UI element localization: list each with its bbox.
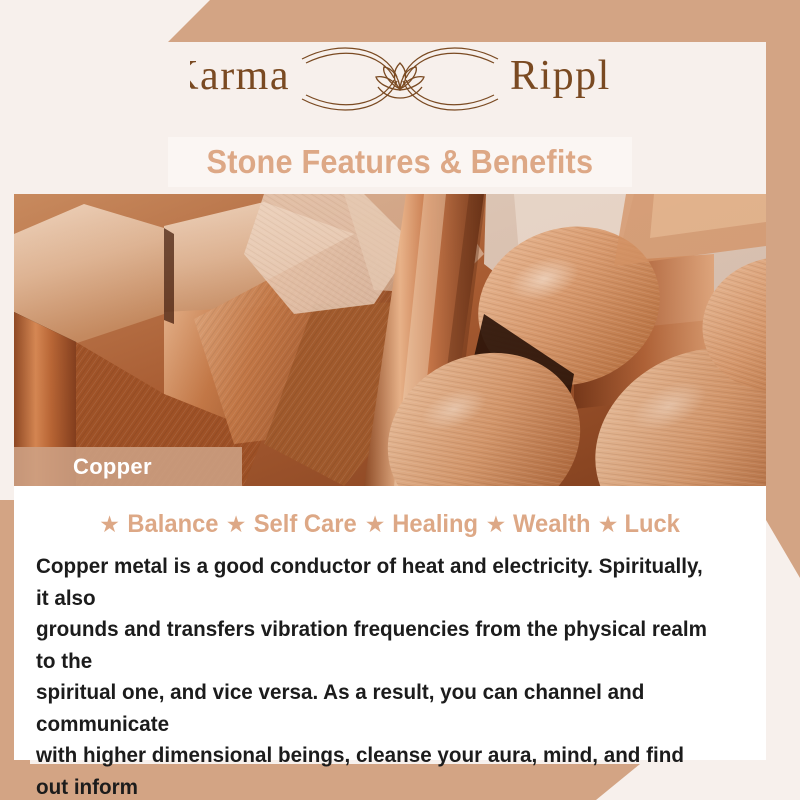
brand-name-right: Ripple: [510, 53, 610, 99]
star-icon: ★: [362, 513, 389, 536]
page-title: Stone Features & Benefits: [207, 143, 594, 181]
copper-photo-art: [14, 194, 766, 486]
logo-svg: Karma Ripple: [190, 37, 610, 123]
keyword-self-care: Self Care: [252, 510, 359, 539]
brand-logo: Karma Ripple: [0, 34, 800, 126]
description-line: Copper metal is a good conductor of heat…: [36, 551, 716, 614]
brand-name-left: Karma: [190, 53, 290, 99]
star-icon: ★: [223, 513, 250, 536]
description-line: grounds and transfers vibration frequenc…: [36, 614, 716, 677]
star-icon: ★: [96, 513, 123, 536]
photo-caption-label: Copper: [14, 454, 152, 480]
keyword-list: ★ Balance ★ Self Care ★ Healing ★ Wealth…: [14, 503, 766, 545]
keyword-healing: Healing: [391, 510, 481, 539]
keyword-luck: Luck: [623, 510, 682, 539]
description-text: Copper metal is a good conductor of heat…: [36, 551, 716, 800]
photo-caption: Copper: [14, 447, 242, 486]
poster: Karma Ripple Stone Features & Benefits: [0, 0, 800, 800]
star-icon: ★: [595, 513, 622, 536]
star-icon: ★: [483, 513, 510, 536]
title-banner: Stone Features & Benefits: [168, 137, 632, 187]
copper-bars-photo: [14, 194, 766, 486]
keyword-balance: Balance: [125, 510, 220, 539]
keyword-wealth: Wealth: [511, 510, 592, 539]
content-card: ★ Balance ★ Self Care ★ Healing ★ Wealth…: [14, 486, 766, 760]
description-line: spiritual one, and vice versa. As a resu…: [36, 677, 716, 740]
description-line: with higher dimensional beings, cleanse …: [36, 740, 716, 800]
